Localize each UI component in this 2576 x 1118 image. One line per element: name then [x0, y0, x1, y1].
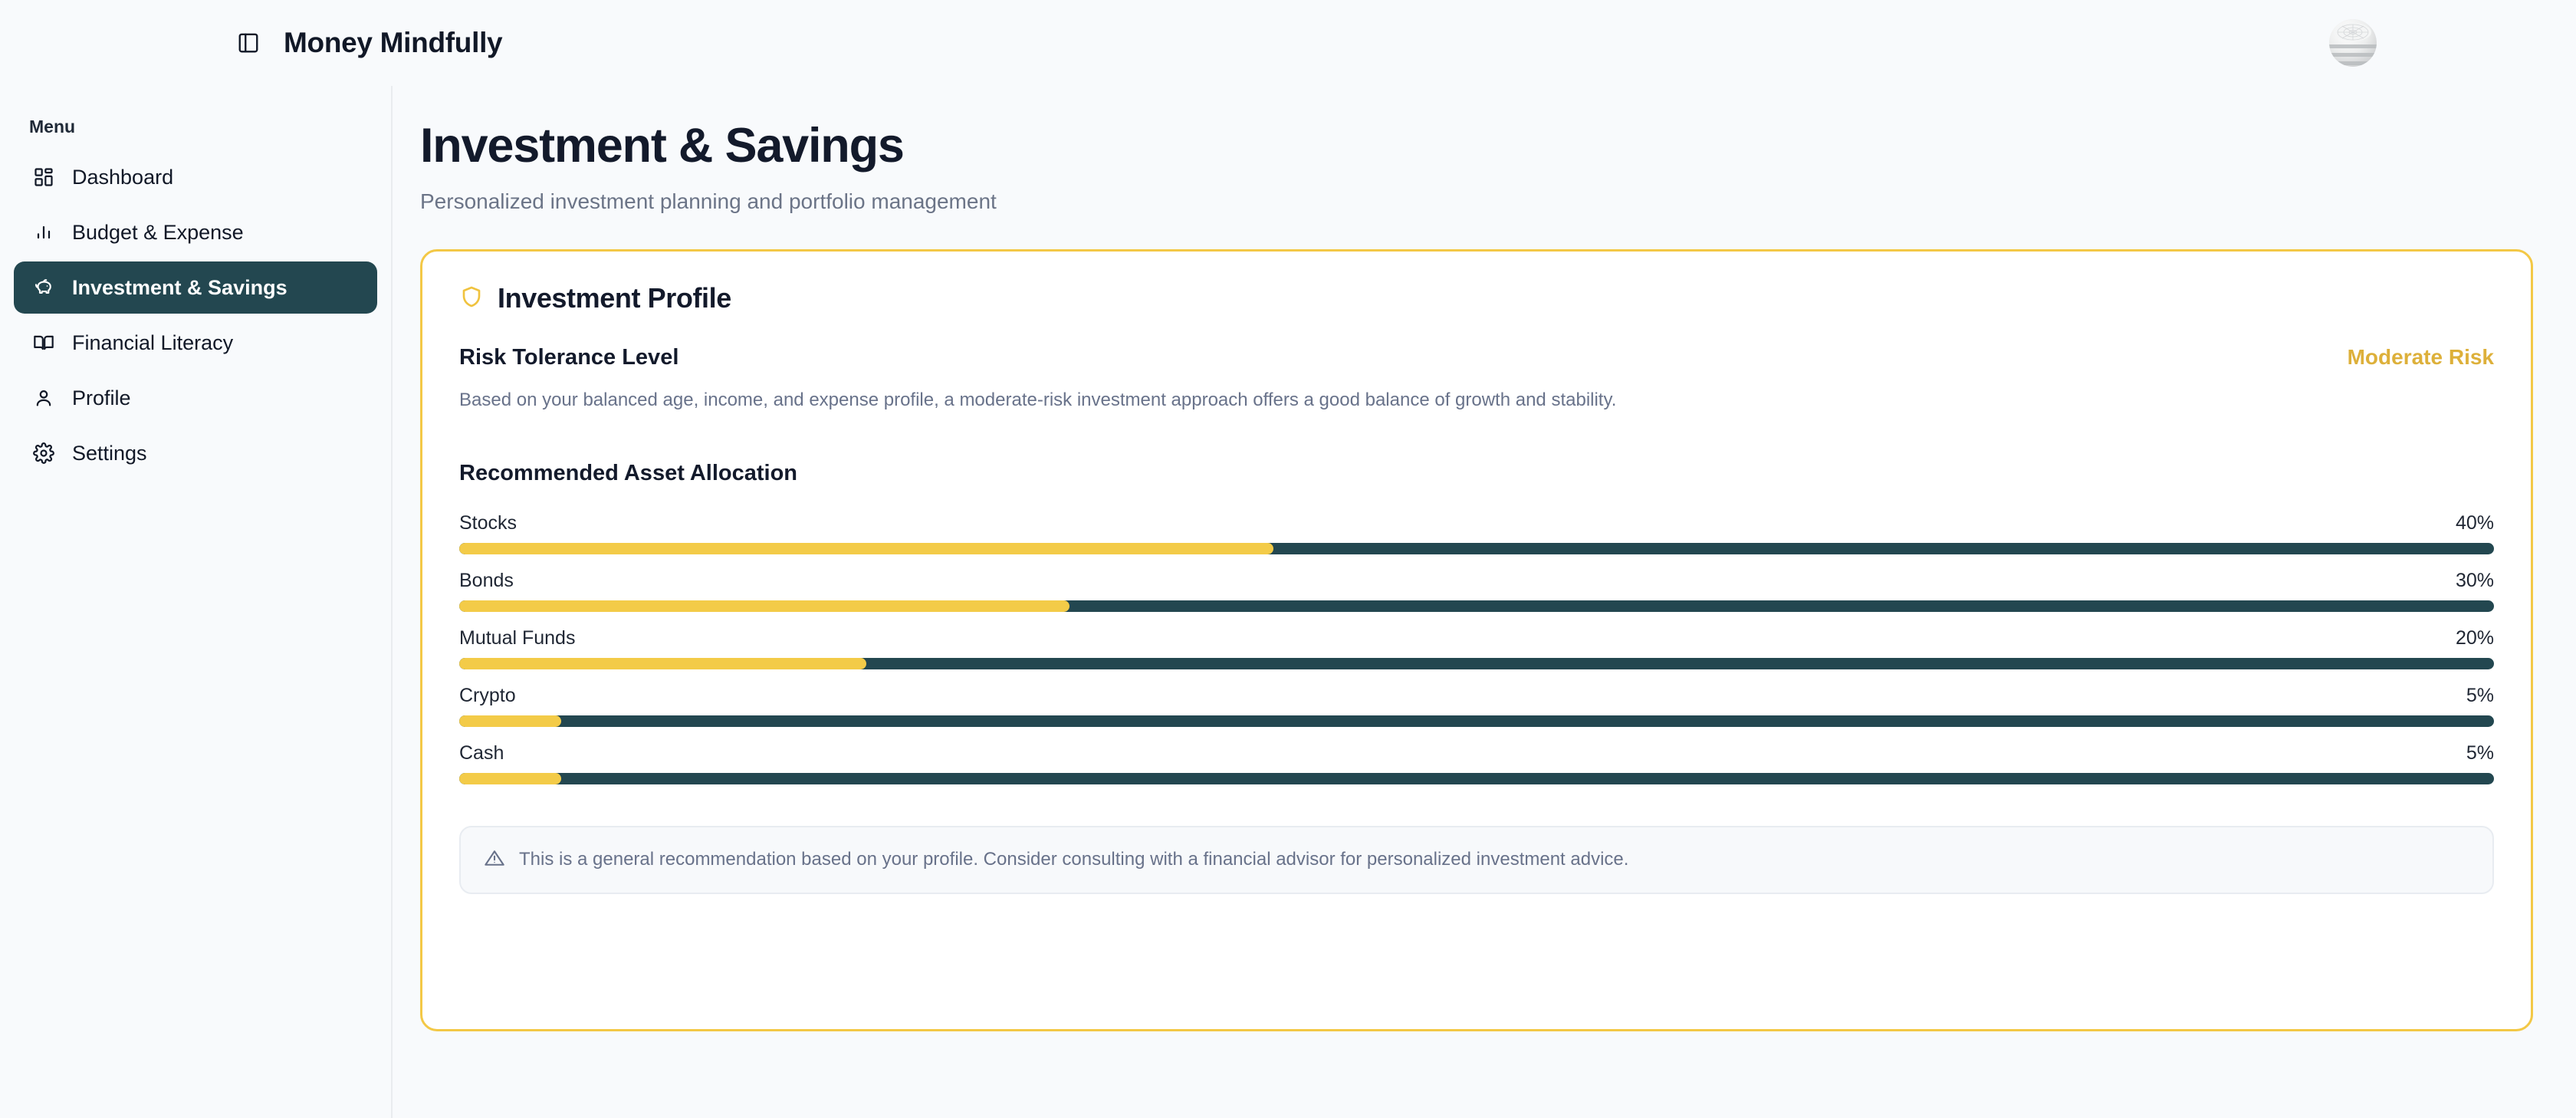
- sidebar-item-label: Dashboard: [72, 166, 173, 189]
- allocation-percent: 5%: [2466, 685, 2494, 707]
- sidebar-item-label: Settings: [72, 442, 147, 465]
- allocation-label: Bonds: [459, 570, 514, 592]
- allocation-progress-fill: [459, 773, 561, 784]
- allocation-percent: 40%: [2456, 512, 2494, 534]
- allocation-row: Cash 5%: [459, 742, 2494, 784]
- card-header: Investment Profile: [459, 282, 2494, 314]
- risk-tolerance-heading: Risk Tolerance Level: [459, 345, 678, 370]
- allocation-progress-bar: [459, 543, 2494, 554]
- sidebar-item-settings[interactable]: Settings: [14, 427, 377, 479]
- sidebar: Menu Dashboard: [0, 86, 393, 1118]
- investment-profile-card: Investment Profile Risk Tolerance Level …: [420, 249, 2533, 1031]
- user-avatar-image: [2329, 19, 2377, 67]
- allocation-label: Stocks: [459, 512, 517, 534]
- allocation-percent: 5%: [2466, 742, 2494, 765]
- sidebar-item-budget-expense[interactable]: Budget & Expense: [14, 206, 377, 258]
- grid-icon: [31, 164, 57, 190]
- sidebar-nav-list: Dashboard Budget & Expense: [0, 151, 391, 479]
- asset-allocation-list: Stocks 40% Bonds 30%: [459, 512, 2494, 784]
- allocation-label: Mutual Funds: [459, 627, 575, 649]
- allocation-row: Stocks 40%: [459, 512, 2494, 554]
- page-title: Investment & Savings: [420, 120, 2533, 173]
- allocation-progress-bar: [459, 773, 2494, 784]
- book-open-icon: [31, 330, 57, 356]
- top-bar: Money Mindfully: [0, 0, 2576, 86]
- main-content: Investment & Savings Personalized invest…: [393, 86, 2576, 1118]
- sidebar-item-label: Budget & Expense: [72, 221, 244, 245]
- status-badge: Moderate Risk: [2348, 345, 2494, 370]
- allocation-percent: 30%: [2456, 570, 2494, 592]
- panel-left-icon: [237, 31, 260, 54]
- allocation-row: Crypto 5%: [459, 685, 2494, 727]
- allocation-progress-bar: [459, 715, 2494, 727]
- asset-allocation-heading: Recommended Asset Allocation: [459, 461, 2494, 486]
- page-subtitle: Personalized investment planning and por…: [420, 189, 2533, 214]
- brand-title: Money Mindfully: [284, 27, 502, 59]
- disclaimer-note: This is a general recommendation based o…: [459, 826, 2494, 894]
- allocation-label: Crypto: [459, 685, 516, 707]
- body-wrapper: Menu Dashboard: [0, 86, 2576, 1118]
- allocation-progress-fill: [459, 600, 1069, 612]
- allocation-progress-fill: [459, 658, 866, 669]
- card-title: Investment Profile: [498, 282, 731, 314]
- risk-description: Based on your balanced age, income, and …: [459, 387, 2494, 413]
- risk-tolerance-row: Risk Tolerance Level Moderate Risk: [459, 345, 2494, 370]
- gear-icon: [31, 440, 57, 466]
- sidebar-item-financial-literacy[interactable]: Financial Literacy: [14, 317, 377, 369]
- app-root: Money Mindfully: [0, 0, 2576, 1118]
- sidebar-toggle-button[interactable]: [230, 25, 267, 61]
- allocation-progress-bar: [459, 600, 2494, 612]
- sidebar-menu-label: Menu: [0, 106, 391, 151]
- allocation-progress-fill: [459, 715, 561, 727]
- allocation-label: Cash: [459, 742, 504, 765]
- bar-chart-icon: [31, 219, 57, 245]
- allocation-percent: 20%: [2456, 627, 2494, 649]
- sidebar-item-label: Investment & Savings: [72, 276, 287, 300]
- sidebar-item-label: Financial Literacy: [72, 331, 233, 355]
- warning-triangle-icon: [484, 847, 505, 873]
- allocation-progress-bar: [459, 658, 2494, 669]
- sidebar-item-profile[interactable]: Profile: [14, 372, 377, 424]
- allocation-row: Mutual Funds 20%: [459, 627, 2494, 669]
- shield-icon: [459, 284, 484, 313]
- sidebar-item-investment-savings[interactable]: Investment & Savings: [14, 261, 377, 314]
- avatar[interactable]: [2329, 19, 2377, 67]
- user-icon: [31, 385, 57, 411]
- allocation-progress-fill: [459, 543, 1273, 554]
- piggy-bank-icon: [31, 275, 57, 301]
- sidebar-item-dashboard[interactable]: Dashboard: [14, 151, 377, 203]
- sidebar-item-label: Profile: [72, 386, 131, 410]
- allocation-row: Bonds 30%: [459, 570, 2494, 612]
- disclaimer-text: This is a general recommendation based o…: [519, 847, 1628, 872]
